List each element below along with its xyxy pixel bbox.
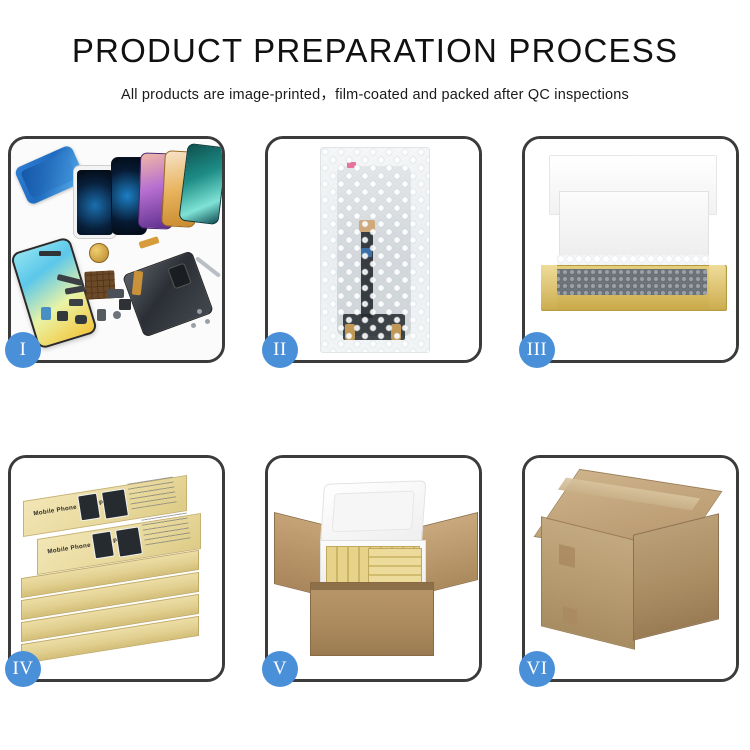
sim-tray: [41, 307, 51, 320]
sealed-carton-scene: [525, 458, 736, 679]
speaker-module: [89, 243, 109, 263]
box-window-1a: [77, 493, 101, 522]
battery-connector: [107, 289, 124, 298]
carton-tab-upper: [559, 544, 575, 568]
carton-side-face: [633, 513, 719, 640]
step-panel-3: III: [522, 136, 739, 363]
foam-box-lid: [320, 480, 427, 548]
step-image-3: [525, 139, 736, 360]
bubble-wrapped-contents: [555, 269, 707, 295]
step-panel-6: VI: [522, 455, 739, 682]
screw-1: [197, 309, 202, 314]
camera-module: [119, 299, 131, 310]
screw-2: [205, 319, 210, 324]
step-image-6: [525, 458, 736, 679]
step-panel-4: Mobile Phone Spare Parts Mobile Phone Sp…: [8, 455, 225, 682]
step-badge-2: II: [262, 332, 298, 368]
earpiece-speaker: [39, 251, 61, 256]
screw-3: [191, 323, 196, 328]
header: PRODUCT PREPARATION PROCESS All products…: [0, 0, 750, 104]
steps-grid: I II: [8, 136, 740, 682]
step-badge-6: VI: [519, 651, 555, 687]
bubble-wrap-scene: [268, 139, 479, 360]
box-lid-face: [559, 191, 709, 265]
parts-assortment-scene: [11, 139, 222, 360]
yellow-boxes-row-2: [368, 548, 422, 584]
small-ic-chip: [69, 299, 83, 306]
box-window-2b: [115, 526, 143, 557]
bubble-texture: [321, 148, 429, 352]
step-badge-3: III: [519, 332, 555, 368]
box-stack-scene: Mobile Phone Spare Parts Mobile Phone Sp…: [11, 458, 222, 679]
step-badge-4: IV: [5, 651, 41, 687]
box-rim-right: [709, 265, 725, 309]
bubble-wrap-bag: [320, 147, 430, 353]
carton-front-face: [541, 516, 635, 649]
box-window-2a: [91, 531, 115, 560]
step-panel-5: V: [265, 455, 482, 682]
box-stack: Mobile Phone Spare Parts Mobile Phone Sp…: [17, 480, 222, 664]
step-image-4: Mobile Phone Spare Parts Mobile Phone Sp…: [11, 458, 222, 679]
step-panel-2: II: [265, 136, 482, 363]
step-badge-5: V: [262, 651, 298, 687]
step-image-5: [268, 458, 479, 679]
antenna-part: [97, 309, 106, 321]
product-preparation-infographic: PRODUCT PREPARATION PROCESS All products…: [0, 0, 750, 750]
inner-box-scene: [525, 139, 736, 360]
carton-body: [310, 582, 434, 656]
carton-open-scene: [268, 458, 479, 679]
box-window-1b: [101, 488, 129, 519]
page-title: PRODUCT PREPARATION PROCESS: [0, 34, 750, 67]
step-badge-1: I: [5, 332, 41, 368]
step-image-2: [268, 139, 479, 360]
flex-cable-top: [138, 236, 159, 249]
step-image-1: [11, 139, 222, 360]
home-button: [113, 311, 121, 319]
step-panel-1: I: [8, 136, 225, 363]
vibrator-motor: [57, 311, 68, 321]
charging-port: [75, 315, 87, 324]
page-subtitle: All products are image-printed，film-coat…: [0, 83, 750, 104]
carton-tab-lower: [563, 606, 577, 625]
box-rim-left: [541, 265, 557, 309]
